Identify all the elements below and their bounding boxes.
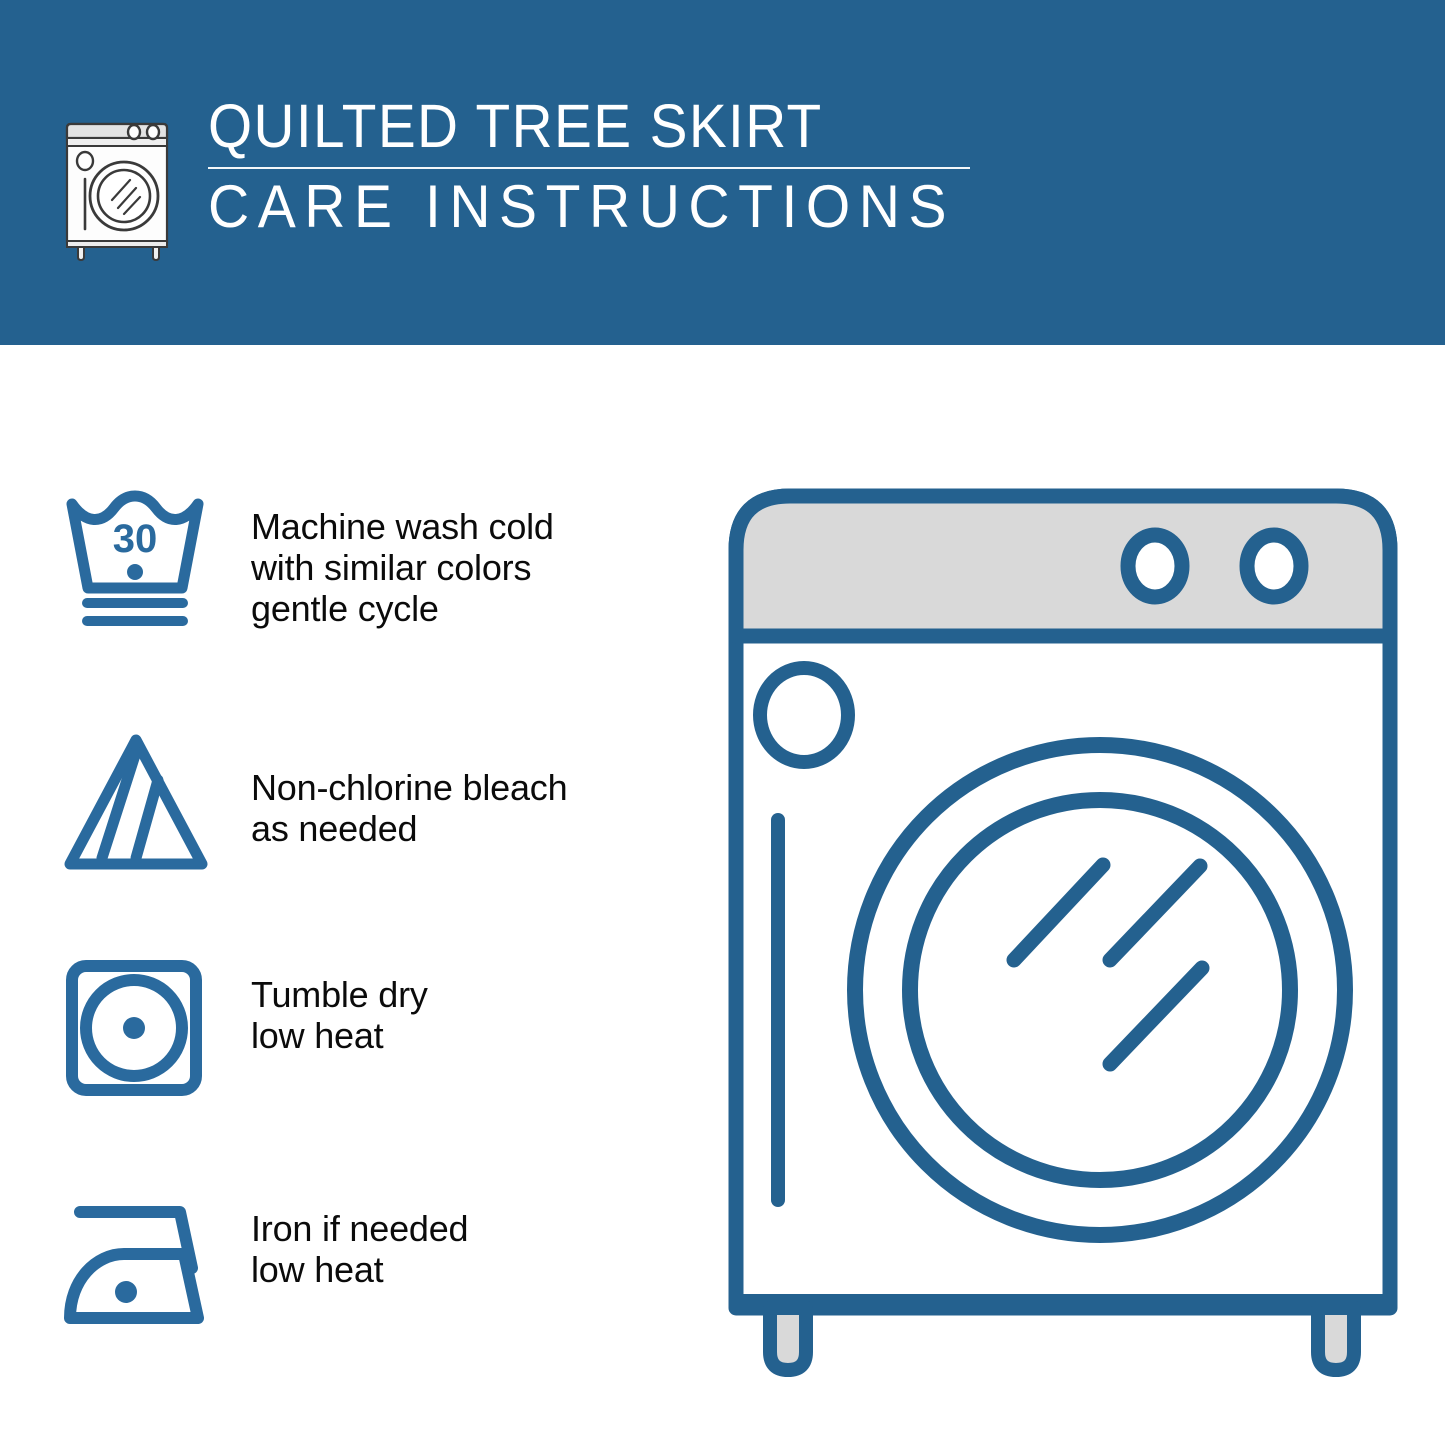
care-instructions-page: QUILTED TREE SKIRT CARE INSTRUCTIONS 30: [0, 0, 1445, 1445]
machine-foot-left: [770, 1308, 806, 1370]
control-knob-right: [1247, 535, 1301, 597]
care-item-tumble-dry: Tumble dry low heat: [62, 950, 682, 1180]
header-content: QUILTED TREE SKIRT CARE INSTRUCTIONS: [62, 96, 994, 262]
care-symbol-wrapper: 30: [62, 490, 237, 640]
wash-dot-icon: [127, 564, 143, 580]
care-item-label: Machine wash cold with similar colors ge…: [237, 490, 682, 629]
header-banner: QUILTED TREE SKIRT CARE INSTRUCTIONS: [0, 0, 1445, 345]
iron-icon: [62, 1198, 230, 1348]
care-symbol-wrapper: [62, 720, 237, 882]
care-label-line: Tumble dry: [251, 974, 682, 1015]
care-label-line: Iron if needed: [251, 1208, 682, 1249]
tumble-dry-icon: [62, 958, 230, 1108]
care-item-iron: Iron if needed low heat: [62, 1180, 682, 1410]
tumble-dry-dot-icon: [123, 1017, 145, 1039]
washing-machine-illustration: [718, 470, 1408, 1380]
care-label-line: as needed: [251, 808, 682, 849]
wash-tub-icon: 30: [62, 490, 230, 640]
title-divider: [208, 167, 970, 169]
machine-base: [736, 1294, 1390, 1310]
page-subtitle: CARE INSTRUCTIONS: [208, 177, 955, 237]
care-instruction-list: 30 Machine wash cold with similar colors…: [62, 490, 682, 1410]
care-item-machine-wash: 30 Machine wash cold with similar colors…: [62, 490, 682, 720]
page-title: QUILTED TREE SKIRT: [208, 96, 939, 157]
header-titles: QUILTED TREE SKIRT CARE INSTRUCTIONS: [208, 96, 994, 237]
detergent-dispenser-icon: [760, 668, 848, 762]
wash-temperature-label: 30: [113, 517, 158, 561]
care-item-label: Tumble dry low heat: [237, 950, 682, 1056]
care-item-label: Iron if needed low heat: [237, 1180, 682, 1290]
care-label-line: low heat: [251, 1015, 682, 1056]
washing-machine-icon: [62, 104, 180, 262]
bleach-triangle-icon: [62, 732, 230, 882]
iron-dot-icon: [115, 1281, 137, 1303]
care-symbol-wrapper: [62, 1180, 237, 1348]
care-symbol-wrapper: [62, 950, 237, 1108]
care-label-line: with similar colors: [251, 547, 682, 588]
care-label-line: low heat: [251, 1249, 682, 1290]
care-item-bleach: Non-chlorine bleach as needed: [62, 720, 682, 950]
care-label-line: Non-chlorine bleach: [251, 767, 682, 808]
drum-inner-circle: [910, 800, 1290, 1180]
care-label-line: gentle cycle: [251, 588, 682, 629]
care-label-line: Machine wash cold: [251, 506, 682, 547]
machine-foot-right: [1318, 1308, 1354, 1370]
control-knob-left: [1128, 535, 1182, 597]
care-item-label: Non-chlorine bleach as needed: [237, 720, 682, 849]
